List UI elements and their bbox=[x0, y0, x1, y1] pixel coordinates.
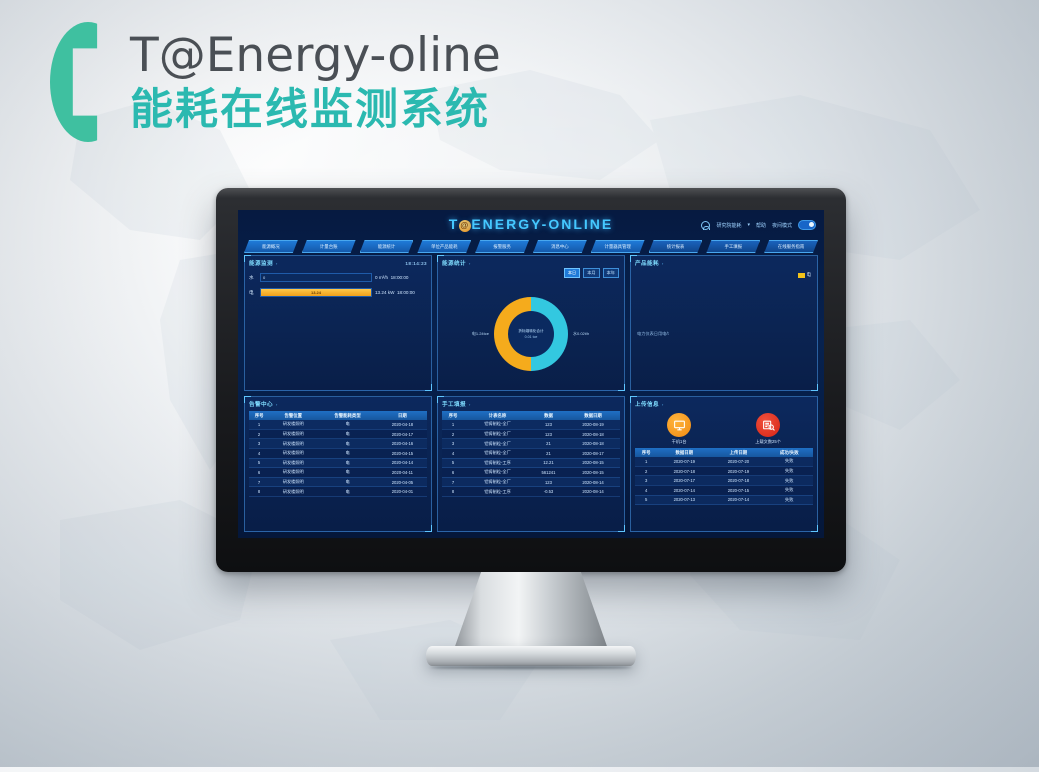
donut-chart: 电1.24tce 折标煤转化合计 0.01 tce 水0.02t/h bbox=[438, 282, 624, 386]
table-cell: 21 bbox=[531, 439, 566, 449]
tab-month[interactable]: 本月 bbox=[583, 268, 599, 278]
table-cell: 2020-08-15 bbox=[566, 458, 620, 468]
table-cell: 失败 bbox=[765, 485, 813, 495]
more-icon[interactable]: › bbox=[276, 261, 278, 266]
table-cell: 失败 bbox=[765, 495, 813, 505]
nav-item-9[interactable]: 在线服务指南 bbox=[764, 240, 818, 253]
table-cell: 2020-07-18 bbox=[657, 466, 711, 476]
table-row[interactable]: 1研发楼照明电2020-04-18 bbox=[249, 420, 427, 429]
table-cell: 电 bbox=[317, 429, 378, 439]
panel-upload-info: 上传信息 › 干机1台 bbox=[630, 396, 818, 532]
table-row[interactable]: 5铝铸制粒-工序12.212020-08-15 bbox=[442, 458, 620, 468]
col-header: 计表名称 bbox=[464, 411, 531, 420]
energy-reading-value: 13.24 kW bbox=[375, 290, 394, 295]
nav-item-4[interactable]: 报警服务 bbox=[475, 240, 529, 253]
panel-title: 手工填报 bbox=[442, 400, 466, 408]
table-row[interactable]: 8研发楼照明电2020-04-01 bbox=[249, 487, 427, 497]
table-cell: 失败 bbox=[765, 476, 813, 486]
table-cell: 8 bbox=[249, 487, 269, 497]
tab-today[interactable]: 本日 bbox=[564, 268, 580, 278]
nav-item-6[interactable]: 计量器具管理 bbox=[591, 240, 645, 253]
kpi-uploads: 上载文数25个 bbox=[755, 413, 781, 445]
table-cell: 铝铸制粒-工序 bbox=[464, 487, 531, 497]
col-header: 数据日期 bbox=[566, 411, 620, 420]
table-cell: 电 bbox=[317, 458, 378, 468]
energy-row-label: 电 bbox=[249, 290, 257, 296]
table-cell: 2020-04-05 bbox=[378, 477, 427, 487]
brand-header: T@Energy-oline 能耗在线监测系统 bbox=[50, 22, 501, 142]
table-cell: 4 bbox=[249, 448, 269, 458]
table-header-row: 序号 数据日期 上传日期 成功/失败 bbox=[635, 448, 813, 457]
table-row[interactable]: 22020-07-182020-07-19失败 bbox=[635, 466, 813, 476]
more-icon[interactable]: › bbox=[469, 261, 471, 266]
table-cell: 铝铸制粒-全厂 bbox=[464, 448, 531, 458]
dashboard-grid: 能源监测 › 18:14:23 水 0 0 m³/h 18:00:00 电 bbox=[244, 255, 818, 532]
energy-row-electric: 电 13.24 13.24 kW 18:00:00 bbox=[249, 288, 427, 297]
table-cell: 研发楼照明 bbox=[269, 468, 317, 478]
table-cell: 2020-04-15 bbox=[378, 448, 427, 458]
col-header: 成功/失败 bbox=[765, 448, 813, 457]
panel-title: 告警中心 bbox=[249, 400, 273, 408]
panel-alarm-center: 告警中心 › 序号 告警位置 告警能耗类型 日期 1研发楼照明电2020-04-… bbox=[244, 396, 432, 532]
table-cell: 2020-08-14 bbox=[566, 487, 620, 497]
alarm-table: 序号 告警位置 告警能耗类型 日期 1研发楼照明电2020-04-182研发楼照… bbox=[249, 411, 427, 497]
nav-item-3[interactable]: 单位产品能耗 bbox=[417, 240, 471, 253]
energy-bar-fill: 13.24 bbox=[261, 289, 371, 296]
table-cell: 6 bbox=[442, 468, 464, 478]
table-row[interactable]: 8铝铸制粒-工序-0.532020-08-14 bbox=[442, 487, 620, 497]
table-cell: 2020-08-19 bbox=[566, 420, 620, 429]
nav-item-8[interactable]: 手工填报 bbox=[706, 240, 760, 253]
table-cell: 2020-07-15 bbox=[711, 485, 765, 495]
table-cell: 2 bbox=[635, 466, 657, 476]
table-cell: 2020-07-13 bbox=[657, 495, 711, 505]
table-row[interactable]: 3铝铸制粒-全厂212020-08-18 bbox=[442, 439, 620, 449]
table-row[interactable]: 4研发楼照明电2020-04-15 bbox=[249, 448, 427, 458]
tab-year[interactable]: 本年 bbox=[603, 268, 619, 278]
panel-header: 手工填报 › bbox=[442, 400, 620, 408]
table-row[interactable]: 42020-07-142020-07-15失败 bbox=[635, 485, 813, 495]
table-row[interactable]: 2铝铸制粒-全厂1232020-08-18 bbox=[442, 429, 620, 439]
panel-header: 产品能耗 › bbox=[635, 259, 813, 267]
legend-label: 电 bbox=[807, 272, 811, 278]
table-cell: 3 bbox=[635, 476, 657, 486]
table-header-row: 序号 告警位置 告警能耗类型 日期 bbox=[249, 411, 427, 420]
stats-period-tabs: 本日 本月 本年 bbox=[564, 268, 619, 278]
table-cell: 2 bbox=[442, 429, 464, 439]
table-cell: -0.53 bbox=[531, 487, 566, 497]
table-cell: 4 bbox=[442, 448, 464, 458]
dashboard-logo-t: T bbox=[449, 216, 460, 232]
panel-manual-entry: 手工填报 › 序号 计表名称 数据 数据日期 1铝铸制粒-全厂1232020-0… bbox=[437, 396, 625, 532]
upload-table-body: 12020-07-192020-07-20失败22020-07-182020-0… bbox=[635, 457, 813, 504]
donut-center: 折标煤转化合计 0.01 tce bbox=[508, 311, 554, 357]
table-cell: 123 bbox=[531, 420, 566, 429]
table-cell: 3 bbox=[442, 439, 464, 449]
legend-swatch-icon bbox=[798, 273, 805, 278]
col-header: 上传日期 bbox=[711, 448, 765, 457]
table-cell: 2020-08-18 bbox=[566, 439, 620, 449]
monitor-neck bbox=[453, 572, 609, 652]
table-cell: 2020-08-17 bbox=[566, 448, 620, 458]
energy-row-water: 水 0 0 m³/h 18:00:00 bbox=[249, 273, 427, 282]
panel-header: 能源统计 › bbox=[442, 259, 620, 267]
table-cell: 1 bbox=[442, 420, 464, 429]
table-cell: 2020-04-14 bbox=[378, 458, 427, 468]
donut-center-line2: 0.01 tce bbox=[525, 335, 538, 339]
table-cell: 铝铸制粒-全厂 bbox=[464, 420, 531, 429]
kpi-machines: 干机1台 bbox=[667, 413, 691, 445]
energy-reading-value: 0 m³/h bbox=[375, 275, 388, 280]
table-row[interactable]: 12020-07-192020-07-20失败 bbox=[635, 457, 813, 466]
table-cell: 2020-04-17 bbox=[378, 429, 427, 439]
table-cell: 12.21 bbox=[531, 458, 566, 468]
table-row[interactable]: 52020-07-132020-07-14失败 bbox=[635, 495, 813, 505]
kpi-caption: 上载文数25个 bbox=[755, 439, 781, 445]
table-cell: 2020-08-14 bbox=[566, 477, 620, 487]
table-cell: 研发楼照明 bbox=[269, 420, 317, 429]
panel-title: 上传信息 bbox=[635, 400, 659, 408]
col-header: 数据日期 bbox=[657, 448, 711, 457]
table-cell: 123 bbox=[531, 429, 566, 439]
col-header: 序号 bbox=[442, 411, 464, 420]
energy-bar-value: 0 bbox=[263, 274, 265, 281]
night-mode-label: 夜间模式 bbox=[772, 222, 792, 229]
table-row[interactable]: 2研发楼照明电2020-04-17 bbox=[249, 429, 427, 439]
table-cell: 8 bbox=[442, 487, 464, 497]
table-cell: 3 bbox=[249, 439, 269, 449]
panel-energy-stats: 能源统计 › 本日 本月 本年 电1.24tce 折标煤转化合计 0.0 bbox=[437, 255, 625, 391]
user-bar: 研究院能耗 ▾ 帮助 夜间模式 bbox=[701, 220, 816, 230]
col-header: 告警能耗类型 bbox=[317, 411, 378, 420]
table-cell: 电 bbox=[317, 477, 378, 487]
brand-title-cn: 能耗在线监测系统 bbox=[130, 89, 501, 132]
table-cell: 铝铸制粒-工序 bbox=[464, 458, 531, 468]
dashboard-logo-rest: ENERGY-ONLINE bbox=[471, 216, 613, 232]
table-row[interactable]: 6研发楼照明电2020-04-11 bbox=[249, 468, 427, 478]
monitor: T@ENERGY-ONLINE 研究院能耗 ▾ 帮助 夜间模式 能源概况 计量台… bbox=[216, 188, 846, 572]
nav-item-2[interactable]: 能源统计 bbox=[360, 240, 414, 253]
table-cell: 2020-07-14 bbox=[711, 495, 765, 505]
table-cell: 123 bbox=[531, 477, 566, 487]
table-cell: 2020-04-11 bbox=[378, 468, 427, 478]
kpi-caption: 干机1台 bbox=[667, 439, 691, 445]
table-cell: 研发楼照明 bbox=[269, 458, 317, 468]
table-row[interactable]: 3研发楼照明电2020-04-16 bbox=[249, 439, 427, 449]
panel-header: 告警中心 › bbox=[249, 400, 427, 408]
chart-legend: 电 bbox=[798, 272, 811, 278]
alarm-table-body: 1研发楼照明电2020-04-182研发楼照明电2020-04-173研发楼照明… bbox=[249, 420, 427, 496]
computer-icon bbox=[667, 413, 691, 437]
help-link[interactable]: 帮助 bbox=[756, 222, 766, 229]
col-header: 数据 bbox=[531, 411, 566, 420]
panel-energy-monitor: 能源监测 › 18:14:23 水 0 0 m³/h 18:00:00 电 bbox=[244, 255, 432, 391]
panel-product-energy: 产品能耗 › 电 电力仪表日用电/t bbox=[630, 255, 818, 391]
table-cell: 2020-08-15 bbox=[566, 468, 620, 478]
table-row[interactable]: 1铝铸制粒-全厂1232020-08-19 bbox=[442, 420, 620, 429]
more-icon[interactable]: › bbox=[276, 402, 278, 407]
table-cell: 5 bbox=[635, 495, 657, 505]
table-cell: 研发楼照明 bbox=[269, 448, 317, 458]
chevron-down-icon[interactable]: ▾ bbox=[747, 222, 750, 228]
table-cell: 电 bbox=[317, 487, 378, 497]
table-cell: 铝铸制粒-全厂 bbox=[464, 439, 531, 449]
table-cell: 2020-07-17 bbox=[657, 476, 711, 486]
panel-title: 能源统计 bbox=[442, 259, 466, 267]
table-cell: 2020-07-19 bbox=[711, 466, 765, 476]
table-cell: 铝铸制粒-全厂 bbox=[464, 468, 531, 478]
table-cell: 失败 bbox=[765, 466, 813, 476]
user-name[interactable]: 研究院能耗 bbox=[716, 222, 741, 229]
col-header: 告警位置 bbox=[269, 411, 317, 420]
table-cell: 研发楼照明 bbox=[269, 477, 317, 487]
energy-bar: 0 bbox=[260, 273, 372, 282]
table-cell: 1 bbox=[635, 457, 657, 466]
table-cell: 失败 bbox=[765, 457, 813, 466]
donut-label-left: 电1.24tce bbox=[472, 331, 489, 337]
donut-label-right: 水0.02t/h bbox=[573, 331, 589, 337]
chart-axis-note: 电力仪表日用电/t bbox=[637, 331, 669, 337]
main-nav: 能源概况 计量台账 能源统计 单位产品能耗 报警服务 消息中心 计量器具管理 统… bbox=[244, 240, 818, 253]
document-search-icon bbox=[756, 413, 780, 437]
energy-bar: 13.24 bbox=[260, 288, 372, 297]
table-cell: 4 bbox=[635, 485, 657, 495]
col-header: 日期 bbox=[378, 411, 427, 420]
table-cell: 2020-07-19 bbox=[657, 457, 711, 466]
table-row[interactable]: 5研发楼照明电2020-04-14 bbox=[249, 458, 427, 468]
upload-table: 序号 数据日期 上传日期 成功/失败 12020-07-192020-07-20… bbox=[635, 448, 813, 505]
brand-title-en: T@Energy-oline bbox=[130, 32, 501, 79]
table-cell: 1 bbox=[249, 420, 269, 429]
monitor-screen: T@ENERGY-ONLINE 研究院能耗 ▾ 帮助 夜间模式 能源概况 计量台… bbox=[238, 210, 824, 538]
night-mode-toggle[interactable] bbox=[798, 220, 816, 230]
nav-item-0[interactable]: 能源概况 bbox=[244, 240, 298, 253]
table-cell: 研发楼照明 bbox=[269, 439, 317, 449]
table-cell: 2 bbox=[249, 429, 269, 439]
energy-reading: 13.24 kW 18:00:00 bbox=[375, 290, 427, 295]
table-row[interactable]: 7铝铸制粒-全厂1232020-08-14 bbox=[442, 477, 620, 487]
table-cell: 561241 bbox=[531, 468, 566, 478]
energy-reading-time: 18:00:00 bbox=[397, 290, 415, 295]
c-logo-icon bbox=[50, 22, 126, 142]
table-cell: 铝铸制粒-全厂 bbox=[464, 477, 531, 487]
table-row[interactable]: 32020-07-172020-07-18失败 bbox=[635, 476, 813, 486]
nav-item-5[interactable]: 消息中心 bbox=[533, 240, 587, 253]
energy-reading: 0 m³/h 18:00:00 bbox=[375, 275, 427, 280]
monitor-base bbox=[426, 646, 636, 666]
table-cell: 2020-04-01 bbox=[378, 487, 427, 497]
more-icon[interactable]: › bbox=[662, 261, 664, 266]
table-cell: 电 bbox=[317, 468, 378, 478]
energy-reading-time: 18:00:00 bbox=[391, 275, 409, 280]
table-cell: 2020-04-18 bbox=[378, 420, 427, 429]
col-header: 序号 bbox=[635, 448, 657, 457]
more-icon[interactable]: › bbox=[662, 402, 664, 407]
table-cell: 电 bbox=[317, 439, 378, 449]
nav-item-7[interactable]: 统计报表 bbox=[649, 240, 703, 253]
panel-title: 能源监测 bbox=[249, 259, 273, 267]
donut-ring: 折标煤转化合计 0.01 tce bbox=[494, 297, 568, 371]
table-cell: 2020-07-14 bbox=[657, 485, 711, 495]
table-cell: 21 bbox=[531, 448, 566, 458]
panel-header: 能源监测 › 18:14:23 bbox=[249, 259, 427, 267]
table-cell: 5 bbox=[442, 458, 464, 468]
col-header: 序号 bbox=[249, 411, 269, 420]
monitor-time: 18:14:23 bbox=[405, 261, 427, 266]
donut-center-line1: 折标煤转化合计 bbox=[518, 329, 543, 334]
at-icon: @ bbox=[459, 220, 471, 232]
user-icon[interactable] bbox=[701, 221, 710, 230]
table-cell: 7 bbox=[249, 477, 269, 487]
upload-kpis: 干机1台 上载文数25个 bbox=[635, 413, 813, 445]
dashboard: T@ENERGY-ONLINE 研究院能耗 ▾ 帮助 夜间模式 能源概况 计量台… bbox=[238, 210, 824, 538]
table-header-row: 序号 计表名称 数据 数据日期 bbox=[442, 411, 620, 420]
table-cell: 2020-07-18 bbox=[711, 476, 765, 486]
table-cell: 研发楼照明 bbox=[269, 487, 317, 497]
table-cell: 6 bbox=[249, 468, 269, 478]
table-cell: 电 bbox=[317, 448, 378, 458]
panel-title: 产品能耗 bbox=[635, 259, 659, 267]
table-cell: 研发楼照明 bbox=[269, 429, 317, 439]
more-icon[interactable]: › bbox=[469, 402, 471, 407]
table-cell: 5 bbox=[249, 458, 269, 468]
manual-entry-table-body: 1铝铸制粒-全厂1232020-08-192铝铸制粒-全厂1232020-08-… bbox=[442, 420, 620, 496]
table-row[interactable]: 7研发楼照明电2020-04-05 bbox=[249, 477, 427, 487]
table-row[interactable]: 4铝铸制粒-全厂212020-08-17 bbox=[442, 448, 620, 458]
table-row[interactable]: 6铝铸制粒-全厂5612412020-08-15 bbox=[442, 468, 620, 478]
nav-item-1[interactable]: 计量台账 bbox=[302, 240, 356, 253]
table-cell: 2020-04-16 bbox=[378, 439, 427, 449]
table-cell: 2020-08-18 bbox=[566, 429, 620, 439]
manual-entry-table: 序号 计表名称 数据 数据日期 1铝铸制粒-全厂1232020-08-192铝铸… bbox=[442, 411, 620, 497]
table-cell: 2020-07-20 bbox=[711, 457, 765, 466]
panel-header: 上传信息 › bbox=[635, 400, 813, 408]
table-cell: 电 bbox=[317, 420, 378, 429]
energy-row-label: 水 bbox=[249, 275, 257, 281]
table-cell: 7 bbox=[442, 477, 464, 487]
table-cell: 铝铸制粒-全厂 bbox=[464, 429, 531, 439]
